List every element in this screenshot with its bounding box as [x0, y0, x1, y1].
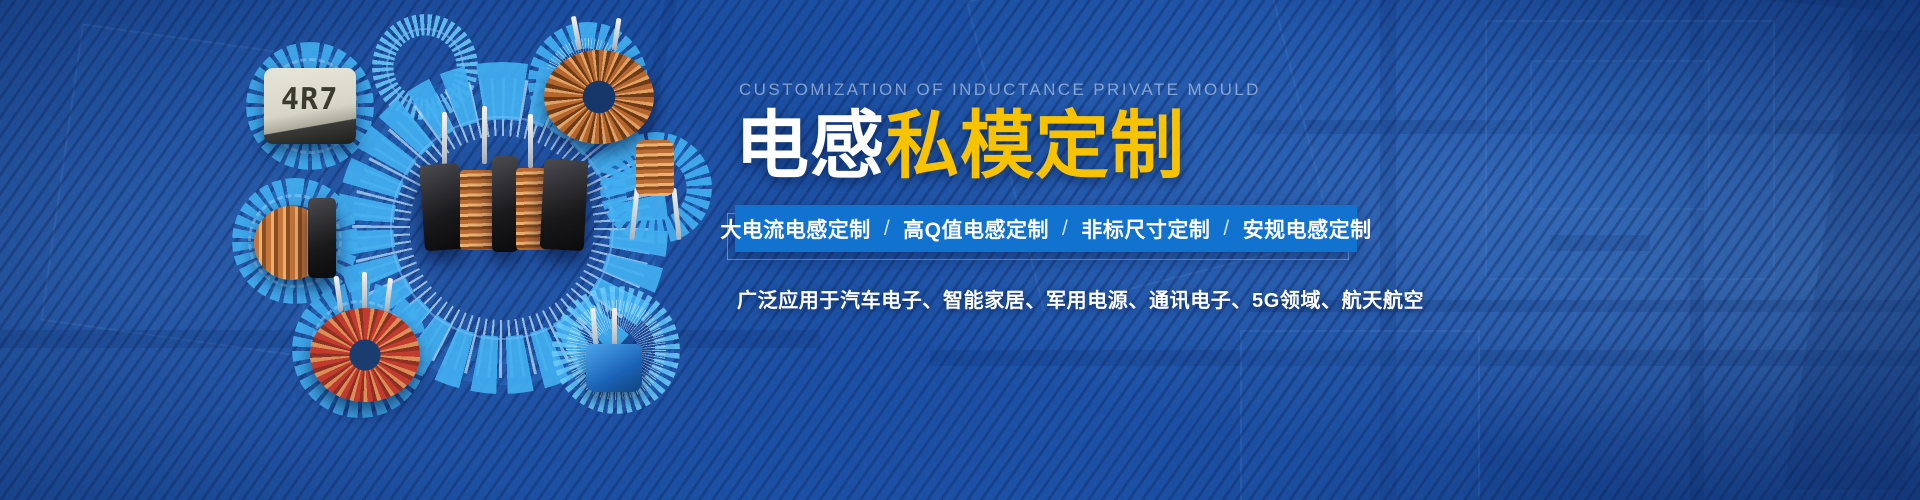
feature-item-0[interactable]: 大电流电感定制 — [720, 214, 871, 244]
banner-text-block: CUSTOMIZATION OF INDUCTANCE PRIVATE MOUL… — [735, 80, 1895, 313]
banner-eyebrow-text: CUSTOMIZATION OF INDUCTANCE PRIVATE MOUL… — [739, 80, 1895, 100]
feature-pill[interactable]: 大电流电感定制 / 高Q值电感定制 / 非标尺寸定制 / 安规电感定制 — [735, 205, 1357, 252]
headline-white-part: 电感 — [735, 104, 885, 187]
headline-yellow-part: 私模定制 — [885, 104, 1185, 187]
feature-separator: / — [1223, 217, 1229, 241]
feature-pill-wrapper: 大电流电感定制 / 高Q值电感定制 / 非标尺寸定制 / 安规电感定制 — [735, 205, 1357, 252]
feature-item-2[interactable]: 非标尺寸定制 — [1081, 214, 1210, 244]
banner-tagline: 广泛应用于汽车电子、智能家居、军用电源、通讯电子、5G领域、航天航空 — [737, 284, 1895, 313]
feature-item-3[interactable]: 安规电感定制 — [1243, 214, 1372, 244]
feature-separator: / — [1062, 217, 1068, 241]
product-hero-banner: 4R7 CUSTOMIZATION OF IND — [0, 0, 1920, 500]
feature-separator: / — [884, 217, 890, 241]
feature-item-1[interactable]: 高Q值电感定制 — [903, 214, 1049, 244]
banner-headline: 电感私模定制 — [735, 108, 1895, 183]
